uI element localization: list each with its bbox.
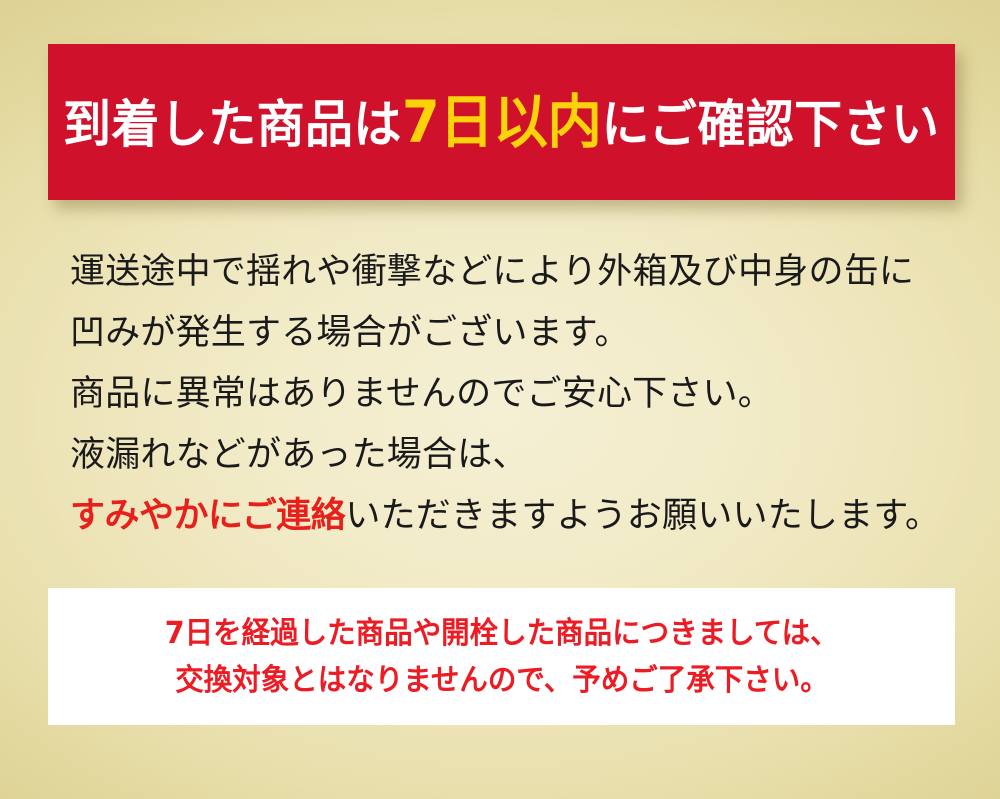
header-banner-title: 到着した商品は7日以内にご確認下さい bbox=[63, 93, 939, 151]
body-line-5-emphasis: すみやかにご連絡 bbox=[70, 496, 345, 536]
notice-box: 7日を経過した商品や開栓した商品につきましては、 交換対象とはなりませんので、予… bbox=[48, 588, 955, 725]
header-banner: 到着した商品は7日以内にご確認下さい bbox=[48, 44, 955, 200]
notice-line-1: 7日を経過した商品や開栓した商品につきましては、 bbox=[165, 610, 839, 657]
body-line-4: 液漏れなどがあった場合は、 bbox=[70, 425, 950, 486]
body-line-5-rest: いただきますようお願いいたします。 bbox=[345, 496, 940, 536]
header-banner-title-before: 到着した商品は bbox=[63, 96, 402, 155]
notice-graphic: 到着した商品は7日以内にご確認下さい 運送途中で揺れや衝撃などにより外箱及び中身… bbox=[0, 0, 1000, 799]
header-banner-title-after: にご確認下さい bbox=[602, 96, 940, 155]
body-line-5: すみやかにご連絡いただきますようお願いいたします。 bbox=[70, 486, 950, 547]
body-line-2: 凹みが発生する場合がございます。 bbox=[70, 303, 950, 364]
notice-line-2: 交換対象とはなりませんので、予めご了承下さい。 bbox=[175, 657, 829, 704]
body-paragraph: 運送途中で揺れや衝撃などにより外箱及び中身の缶に 凹みが発生する場合がございます… bbox=[70, 242, 950, 547]
body-line-1: 運送途中で揺れや衝撃などにより外箱及び中身の缶に bbox=[70, 242, 950, 303]
body-line-3: 商品に異常はありませんのでご安心下さい。 bbox=[70, 364, 950, 425]
header-banner-title-highlight: 7日以内 bbox=[402, 88, 602, 156]
